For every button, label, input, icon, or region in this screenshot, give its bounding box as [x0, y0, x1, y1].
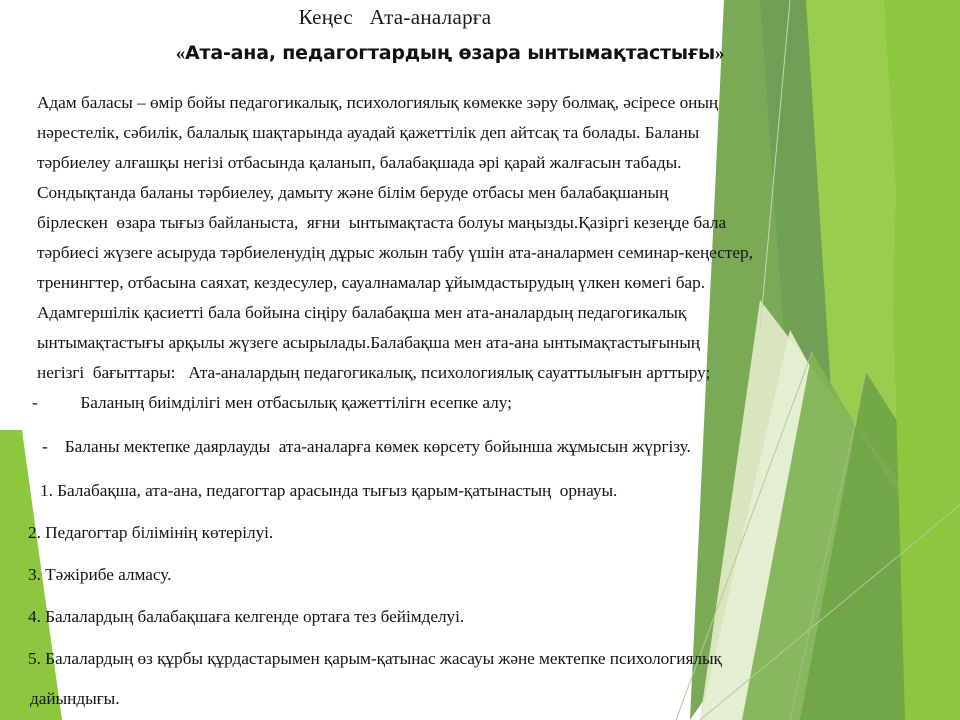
body-line: Адам баласы – өмір бойы педагогикалық, п…: [37, 88, 913, 118]
list-item: 1. Балабақша, ата-ана, педагогтар арасын…: [40, 480, 617, 502]
list-item-continuation: дайындығы.: [30, 688, 120, 710]
page-title: Кеңес Ата-аналарға: [0, 5, 790, 30]
body-line: тәрбиесі жүзеге асыруда тәрбиеленудің дұ…: [37, 238, 913, 268]
body-paragraph: Адам баласы – өмір бойы педагогикалық, п…: [37, 88, 913, 388]
slide-content: Кеңес Ата-аналарға «Ата-ана, педагогтард…: [0, 0, 960, 720]
subtitle-text: Ата-ана, педагогтардың өзара ынтымақтаст…: [185, 42, 715, 64]
slide-canvas: Кеңес Ата-аналарға «Ата-ана, педагогтард…: [0, 0, 960, 720]
list-item: - Баланың биімділігі мен отбасылық қажет…: [32, 392, 512, 414]
body-line: нәрестелік, сәбилік, балалық шақтарында …: [37, 118, 913, 148]
page-subtitle: «Ата-ана, педагогтардың өзара ынтымақтас…: [0, 42, 900, 65]
list-item: 2. Педагогтар білімінің көтерілуі.: [28, 522, 273, 544]
list-item: - Баланы мектепке даярлауды ата-аналарға…: [42, 436, 691, 458]
subtitle-close-quote: »: [715, 43, 724, 64]
body-line: тренингтер, отбасына саяхат, кездесулер,…: [37, 268, 913, 298]
body-line: негізгі бағыттары: Ата-аналардың педагог…: [37, 358, 913, 388]
body-line: ынтымақтастығы арқылы жүзеге асырылады.Б…: [37, 328, 913, 358]
list-item: 4. Балалардың балабақшаға келгенде ортағ…: [28, 606, 464, 628]
body-line: Сондықтанда баланы тәрбиелеу, дамыту жән…: [37, 178, 913, 208]
body-line: бірлескен өзара тығыз байланыста, яғни ы…: [37, 208, 913, 238]
body-line: тәрбиелеу алғашқы негізі отбасында қалан…: [37, 148, 913, 178]
list-item: 5. Балалардың өз құрбы құрдастарымен қар…: [28, 648, 722, 670]
list-item: 3. Тәжірибе алмасу.: [28, 564, 171, 586]
body-line: Адамгершілік қасиетті бала бойына сіңіру…: [37, 298, 913, 328]
subtitle-open-quote: «: [176, 43, 185, 64]
